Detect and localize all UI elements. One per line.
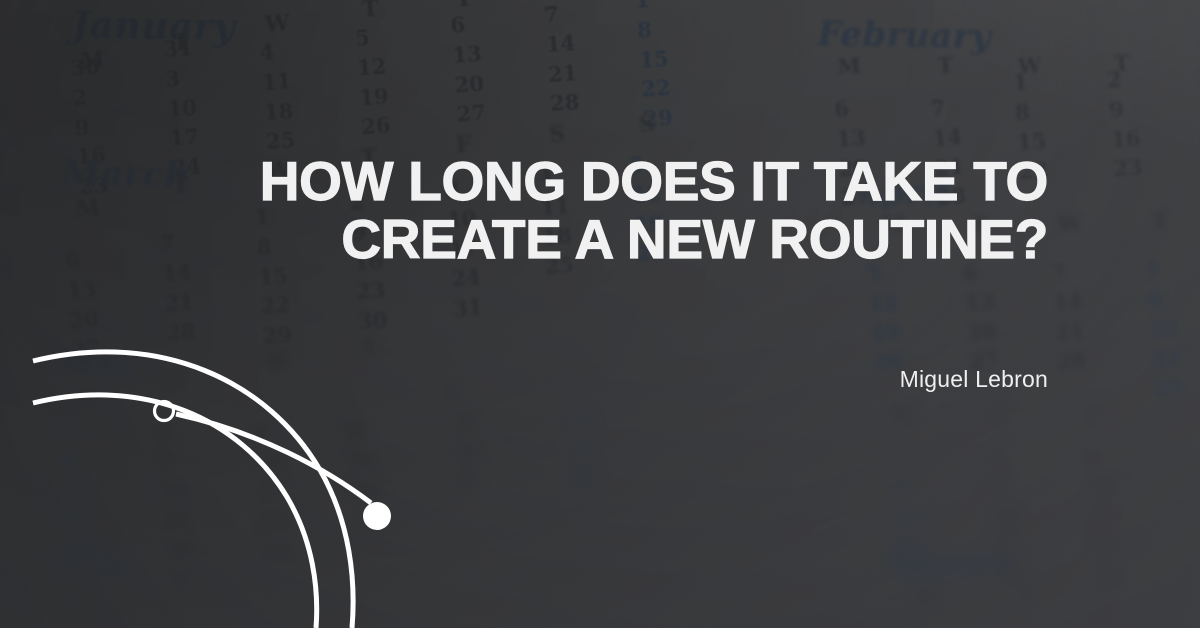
author-byline: Miguel Lebron bbox=[900, 366, 1048, 393]
page-title: How long does it take to create a new ro… bbox=[188, 152, 1048, 268]
text-content: How long does it take to create a new ro… bbox=[0, 0, 1200, 628]
blog-header-banner: January M T W T F S S 30291623 313101724… bbox=[0, 0, 1200, 628]
